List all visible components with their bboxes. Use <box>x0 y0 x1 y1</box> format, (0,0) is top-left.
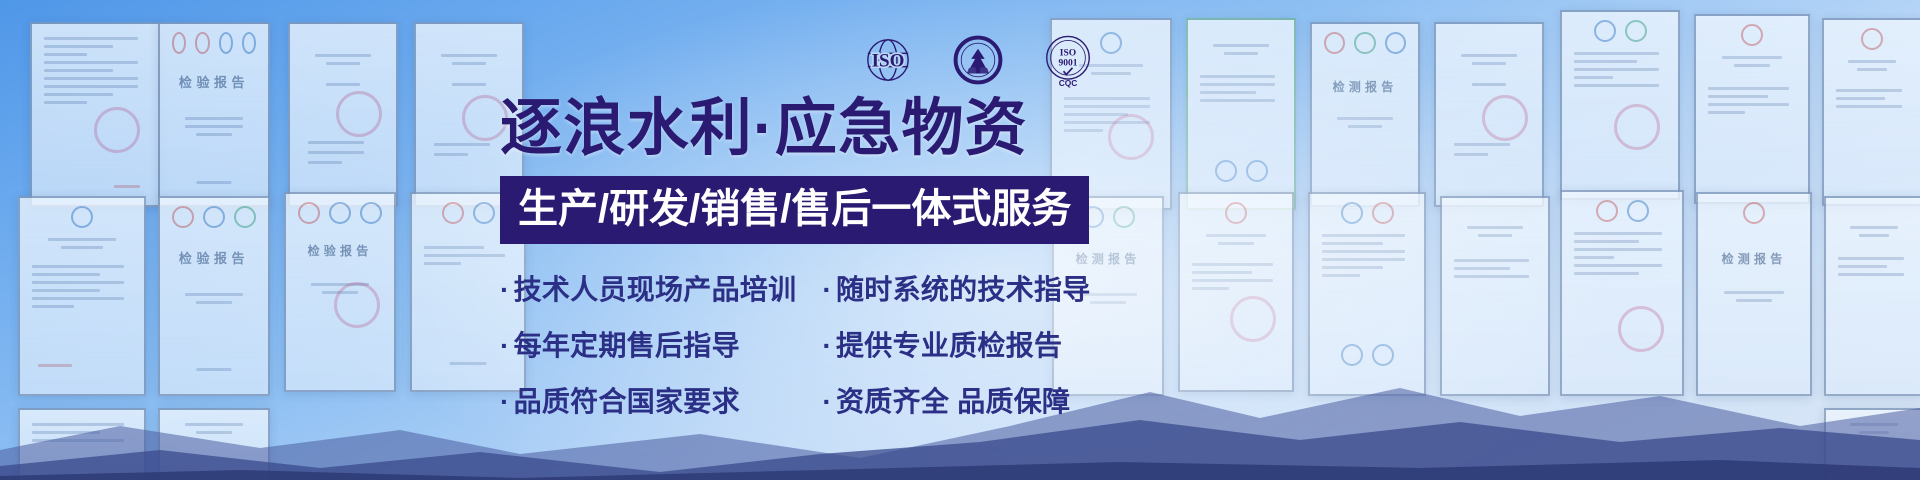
certificate-thumb <box>30 22 160 207</box>
certificate-heading: 检验报告 <box>172 72 256 91</box>
certificate-thumb <box>1434 22 1544 207</box>
list-item: ·随时系统的技术指导 <box>822 268 1090 308</box>
list-item: ·每年定期售后指导 <box>500 324 796 364</box>
iso14000-logo <box>950 32 1006 88</box>
list-item-label: 每年定期售后指导 <box>514 330 740 361</box>
svg-text:ISO: ISO <box>1060 49 1076 59</box>
headline-block: 逐浪水利·应急物资 生产/研发/销售/售后一体式服务 ·技术人员现场产品培训 ·… <box>500 96 1100 420</box>
list-item-label: 技术人员现场产品培训 <box>514 274 797 305</box>
bullet-marker: · <box>500 274 510 305</box>
certificate-thumb <box>1822 18 1920 206</box>
certificate-thumb: 检测报告 <box>1310 22 1420 207</box>
certificate-thumb <box>1560 10 1680 200</box>
bullet-marker: · <box>822 330 832 361</box>
certificate-heading: 检测报告 <box>1710 250 1798 267</box>
banner-title: 逐浪水利·应急物资 <box>500 96 1100 162</box>
iso-globe-logo: ISO <box>860 32 916 88</box>
list-item: ·提供专业质检报告 <box>822 324 1090 364</box>
bullet-marker: · <box>822 386 832 417</box>
certificate-thumb <box>1186 18 1296 210</box>
list-item-label: 资质齐全 品质保障 <box>836 386 1070 417</box>
certification-logo-row: ISO ISO 9001 CQC <box>860 32 1096 88</box>
list-item: ·技术人员现场产品培训 <box>500 268 796 308</box>
certificate-thumb: 检验报告 <box>158 22 270 207</box>
bullet-marker: · <box>500 330 510 361</box>
bullet-marker: · <box>822 274 832 305</box>
svg-text:9001: 9001 <box>1058 59 1077 69</box>
iso9001-cqc-logo: ISO 9001 CQC <box>1040 32 1096 88</box>
svg-text:ISO: ISO <box>872 51 905 72</box>
bullet-marker: · <box>500 386 510 417</box>
certificate-thumb <box>1694 14 1810 204</box>
list-item: ·资质齐全 品质保障 <box>822 380 1090 420</box>
certificate-thumb <box>288 22 398 207</box>
list-item-label: 随时系统的技术指导 <box>836 274 1091 305</box>
list-item: ·品质符合国家要求 <box>500 380 796 420</box>
feature-list: ·技术人员现场产品培训 ·随时系统的技术指导 ·每年定期售后指导 ·提供专业质检… <box>500 268 1100 420</box>
list-item-label: 品质符合国家要求 <box>514 386 740 417</box>
list-item-label: 提供专业质检报告 <box>836 330 1062 361</box>
certificate-heading: 检验报告 <box>172 248 256 267</box>
certificate-heading: 检测报告 <box>1324 78 1406 95</box>
banner-subtitle: 生产/研发/销售/售后一体式服务 <box>500 176 1089 244</box>
svg-text:CQC: CQC <box>1059 78 1078 88</box>
promo-banner: 检验报告 <box>0 0 1920 480</box>
certificate-heading: 检验报告 <box>298 242 382 259</box>
